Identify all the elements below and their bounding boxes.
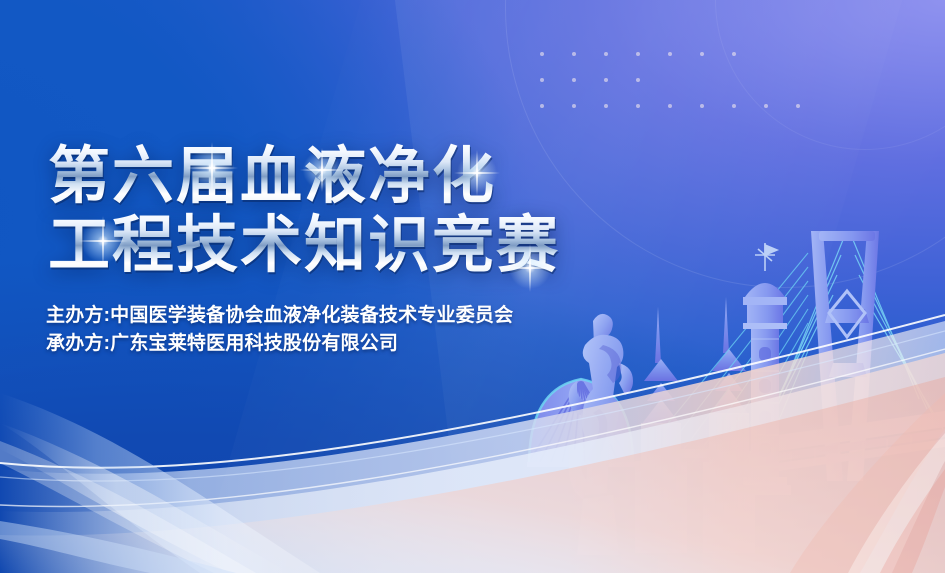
poster-title: 第六届血液净化 工程技术知识竞赛 (48, 140, 688, 282)
poster-subtitles: 主办方:中国医学装备协会血液净化装备技术专业委员会 承办方:广东宝莱特医用科技股… (46, 302, 513, 358)
event-poster: 第六届血液净化 工程技术知识竞赛 主办方:中国医学装备协会血液净化装备技术专业委… (0, 0, 945, 573)
host-line: 承办方:广东宝莱特医用科技股份有限公司 (46, 330, 513, 358)
organizer-line: 主办方:中国医学装备协会血液净化装备技术专业委员会 (46, 302, 513, 330)
title-line-1: 第六届血液净化 (48, 140, 688, 213)
title-line-2: 工程技术知识竞赛 (48, 209, 688, 282)
